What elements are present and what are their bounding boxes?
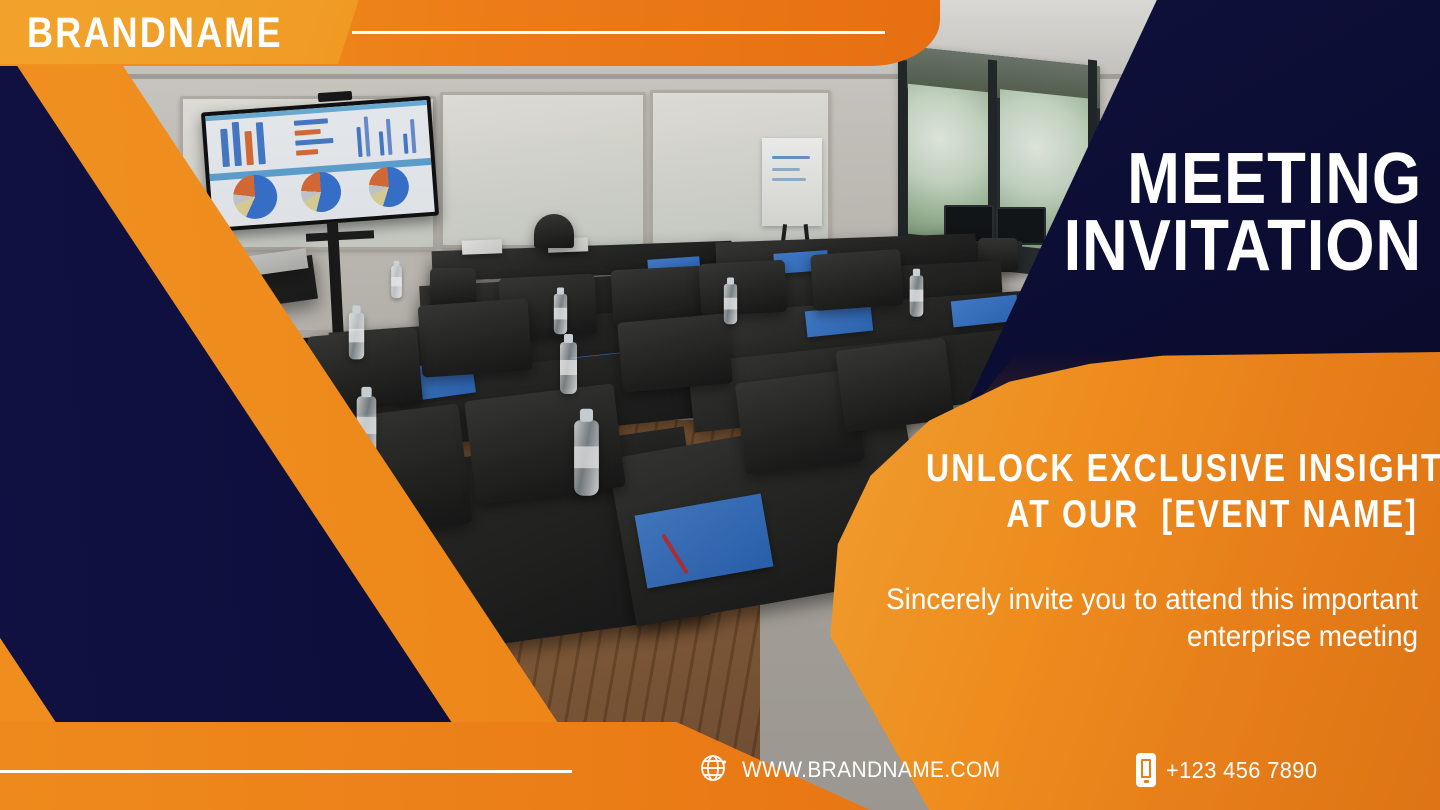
footer-rule	[0, 770, 572, 773]
subtitle-line-2: enterprise meeting	[841, 619, 1418, 656]
mobile-phone-icon	[1136, 753, 1156, 787]
phone-number: +123 456 7890	[1166, 757, 1317, 784]
title-line-1: MEETING	[929, 146, 1422, 213]
header-rule	[352, 31, 885, 34]
headline-line-2: AT OUR [EVENT NAME]	[926, 492, 1418, 538]
globe-icon	[698, 752, 730, 789]
headline: UNLOCK EXCLUSIVE INSIGHTS AT OUR [EVENT …	[818, 446, 1418, 538]
subtitle-line-1: Sincerely invite you to attend this impo…	[841, 582, 1418, 619]
website-url: WWW.BRANDNAME.COM	[742, 757, 1000, 783]
subtitle: Sincerely invite you to attend this impo…	[798, 582, 1418, 655]
headline-line-1: UNLOCK EXCLUSIVE INSIGHTS	[926, 446, 1418, 492]
website-contact[interactable]: WWW.BRANDNAME.COM	[698, 752, 1014, 789]
page-title: MEETING INVITATION	[862, 146, 1422, 280]
phone-contact[interactable]: +123 456 7890	[1136, 753, 1325, 787]
footer-contact-bar: WWW.BRANDNAME.COM +123 456 7890	[690, 746, 1430, 794]
meeting-invitation-poster: BRANDNAME MEETING INVITATION UNLOCK EXCL…	[0, 0, 1440, 810]
brand-name: BRANDNAME	[27, 12, 283, 55]
title-line-2: INVITATION	[929, 213, 1422, 280]
